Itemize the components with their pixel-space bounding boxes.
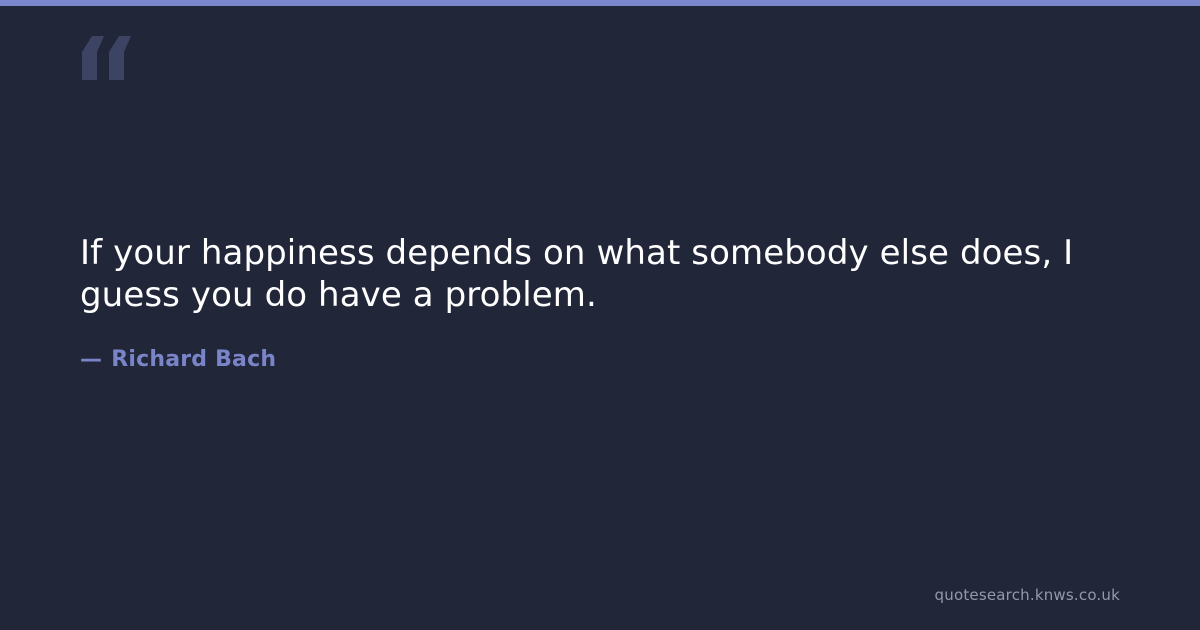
site-watermark: quotesearch.knws.co.uk [935,586,1120,604]
quote-attribution: —Richard Bach [80,316,1128,374]
top-accent-bar [0,0,1200,6]
author-name: Richard Bach [111,347,276,372]
double-quote-icon [80,36,132,82]
quote-content: If your happiness depends on what somebo… [80,232,1128,374]
attribution-dash: — [80,346,111,374]
quote-text: If your happiness depends on what somebo… [80,232,1120,316]
quote-card: If your happiness depends on what somebo… [0,0,1200,630]
